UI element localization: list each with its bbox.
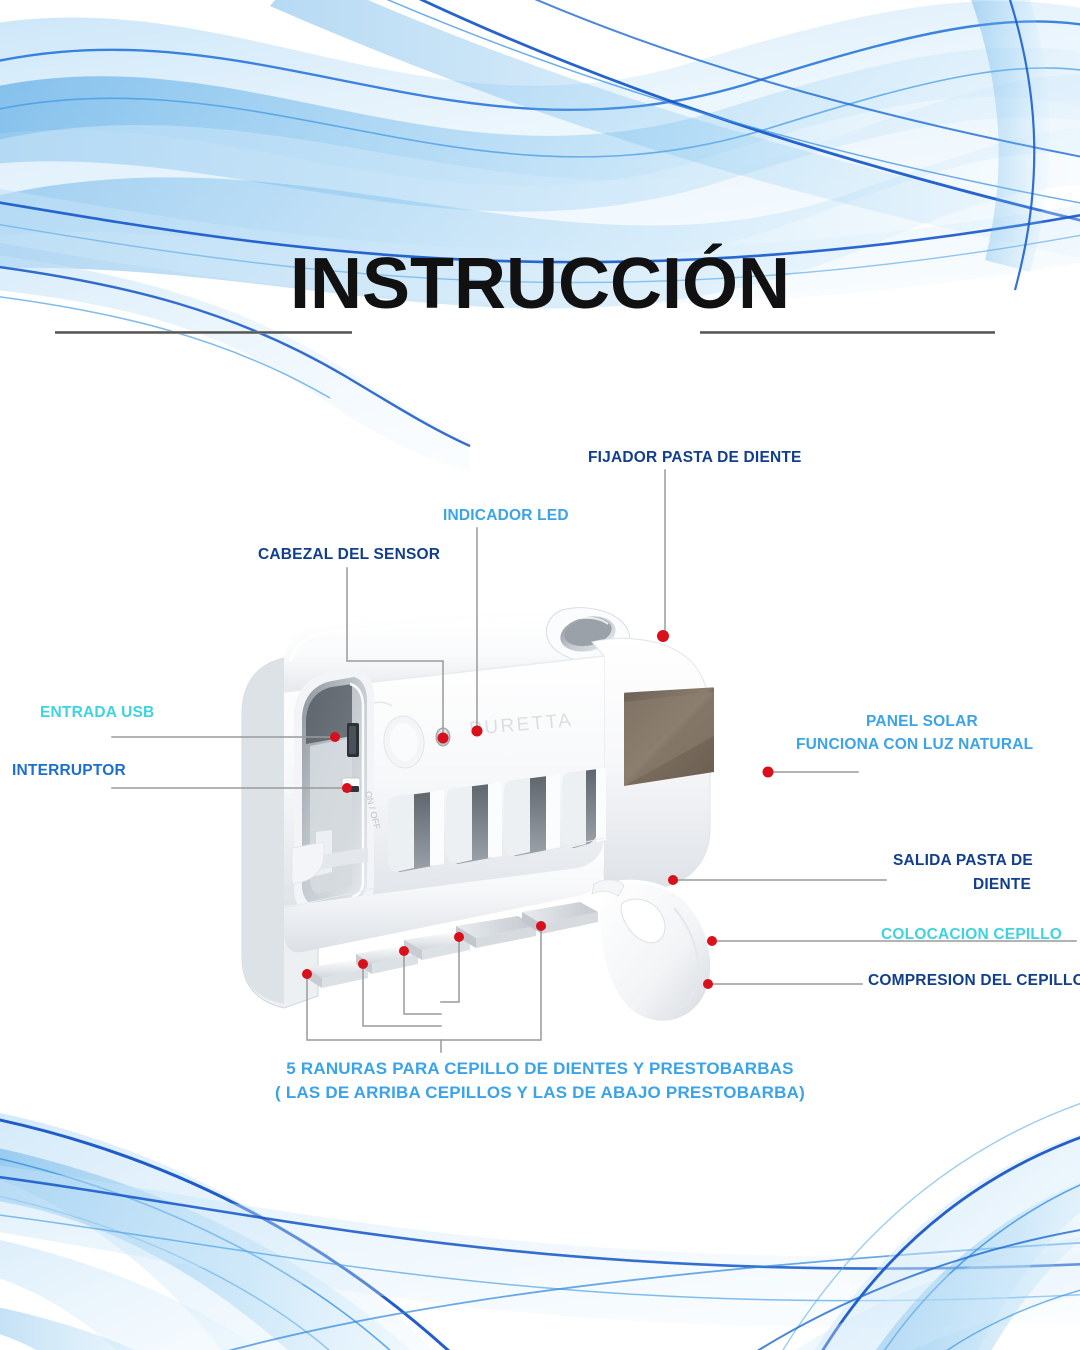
page-title-block: INSTRUCCIÓN xyxy=(0,248,1080,320)
label-compresion-cepillo: COMPRESION DEL CEPILLO xyxy=(868,971,1080,992)
product-illustration: PURETTA ON / OFF xyxy=(232,596,752,1026)
dot-panel-solar xyxy=(763,767,774,778)
instruction-poster: INSTRUCCIÓN xyxy=(0,0,1080,1350)
device-dispenser-handle xyxy=(592,880,710,1021)
wave-group-top xyxy=(0,0,1080,472)
label-salida-pasta-sub: DIENTE xyxy=(973,875,1031,896)
label-panel-solar: PANEL SOLAR xyxy=(866,712,978,733)
label-interruptor: INTERRUPTOR xyxy=(12,761,126,782)
caption-line-2: ( LAS DE ARRIBA CEPILLOS Y LAS DE ABAJO … xyxy=(0,1082,1080,1105)
title-rule-right xyxy=(700,331,995,334)
title-rule-left xyxy=(55,331,352,334)
label-cabezal-sensor: CABEZAL DEL SENSOR xyxy=(258,545,440,566)
caption-line-1: 5 RANURAS PARA CEPILLO DE DIENTES Y PRES… xyxy=(0,1058,1080,1081)
label-entrada-usb: ENTRADA USB xyxy=(40,703,154,724)
label-fijador-pasta: FIJADOR PASTA DE DIENTE xyxy=(588,448,802,469)
label-colocacion-cepillo: COLOCACION CEPILLO xyxy=(881,925,1062,946)
label-salida-pasta: SALIDA PASTA DE xyxy=(893,851,1033,872)
label-panel-solar-sub: FUNCIONA CON LUZ NATURAL xyxy=(796,735,1033,756)
label-indicador-led: INDICADOR LED xyxy=(443,506,569,527)
wave-group-bottom-right xyxy=(700,1088,1080,1350)
wave-group-bottom-left xyxy=(0,1105,1080,1350)
page-title: INSTRUCCIÓN xyxy=(290,244,790,324)
